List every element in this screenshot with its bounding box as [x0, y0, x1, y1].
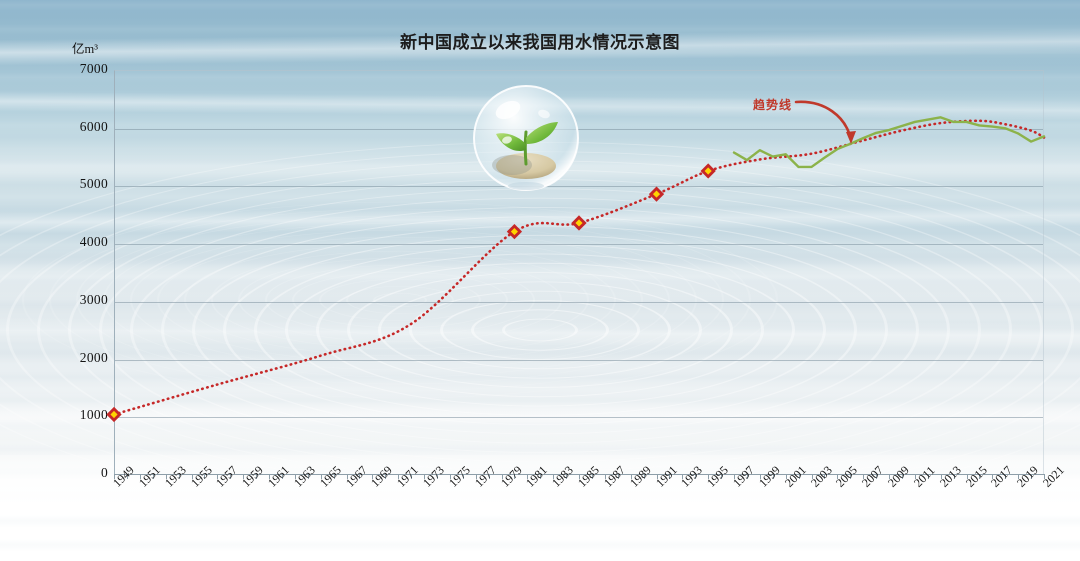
gridline — [115, 417, 1043, 418]
trend-line-annotation: 趋势线 — [753, 96, 792, 113]
glass-sphere-sprout-icon — [470, 82, 582, 194]
y-axis-unit-label: 亿m³ — [72, 38, 98, 57]
gridline — [115, 360, 1043, 361]
gridline — [115, 244, 1043, 245]
y-axis-tick-label: 6000 — [2, 119, 108, 135]
chart-title: 新中国成立以来我国用水情况示意图 — [0, 28, 1080, 53]
x-axis-tick-labels: 1949195119531955195719591961196319651967… — [0, 474, 1080, 554]
y-axis-tick-label: 5000 — [2, 176, 108, 192]
y-axis-tick-label: 1000 — [2, 407, 108, 423]
y-axis-tick-label: 4000 — [2, 234, 108, 250]
y-axis-tick-label: 7000 — [2, 61, 108, 77]
chart-canvas: 新中国成立以来我国用水情况示意图 亿m³ 7000600050004000300… — [0, 0, 1080, 561]
y-axis-tick-label: 3000 — [2, 292, 108, 308]
gridline — [115, 302, 1043, 303]
y-axis-tick-label: 2000 — [2, 350, 108, 366]
